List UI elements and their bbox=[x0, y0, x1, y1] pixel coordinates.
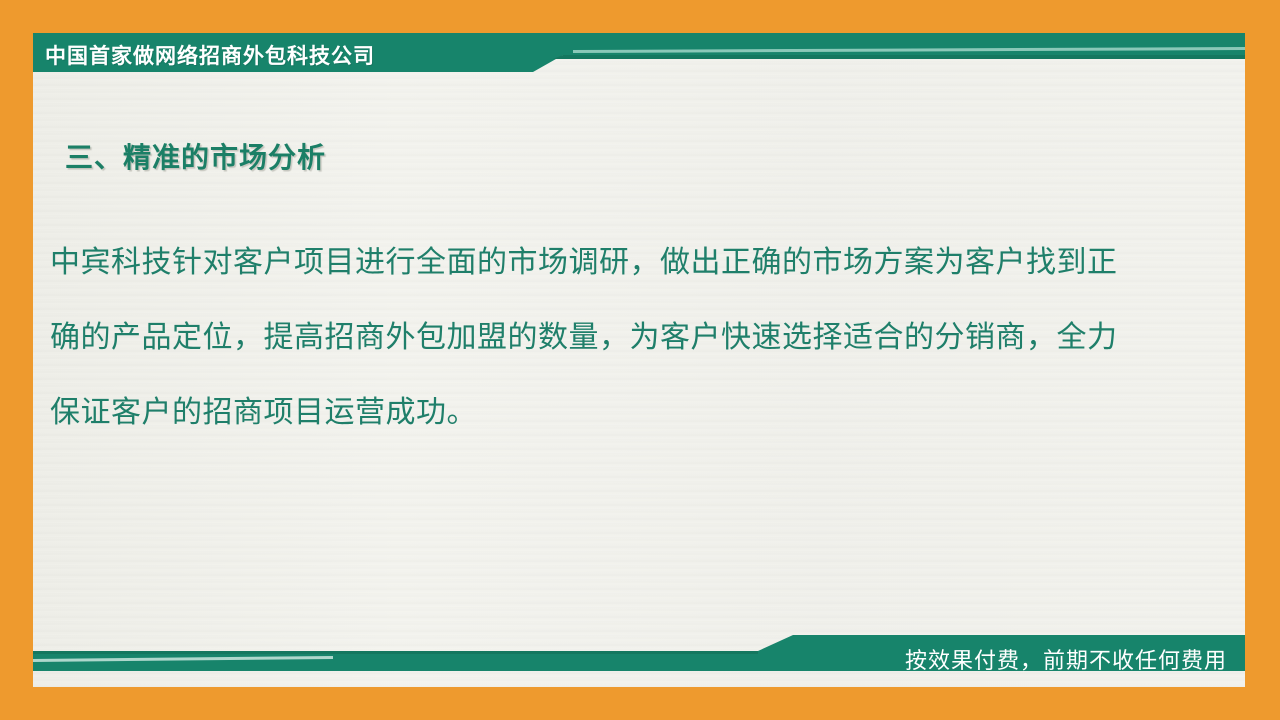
presentation-slide: 中国首家做网络招商外包科技公司 三、精准的市场分析 中宾科技针对客户项目进行全面… bbox=[0, 0, 1280, 720]
slide-footer-band: 按效果付费，前期不收任何费用 bbox=[33, 615, 1245, 687]
section-heading: 三、精准的市场分析 bbox=[65, 136, 326, 176]
footer-slogan: 按效果付费，前期不收任何费用 bbox=[905, 643, 1227, 675]
body-paragraph: 中宾科技针对客户项目进行全面的市场调研，做出正确的市场方案为客户找到正 确的产品… bbox=[50, 225, 1210, 450]
body-line: 保证客户的招商项目运营成功。 bbox=[50, 375, 1210, 450]
footer-green-lip bbox=[33, 651, 758, 654]
slide-content-panel: 中国首家做网络招商外包科技公司 三、精准的市场分析 中宾科技针对客户项目进行全面… bbox=[33, 33, 1245, 687]
header-title: 中国首家做网络招商外包科技公司 bbox=[45, 40, 375, 70]
slide-header-band: 中国首家做网络招商外包科技公司 bbox=[33, 33, 1245, 79]
body-line: 中宾科技针对客户项目进行全面的市场调研，做出正确的市场方案为客户找到正 bbox=[50, 225, 1210, 300]
body-line: 确的产品定位，提高招商外包加盟的数量，为客户快速选择适合的分销商，全力 bbox=[50, 300, 1210, 375]
header-green-lip bbox=[553, 55, 1245, 59]
